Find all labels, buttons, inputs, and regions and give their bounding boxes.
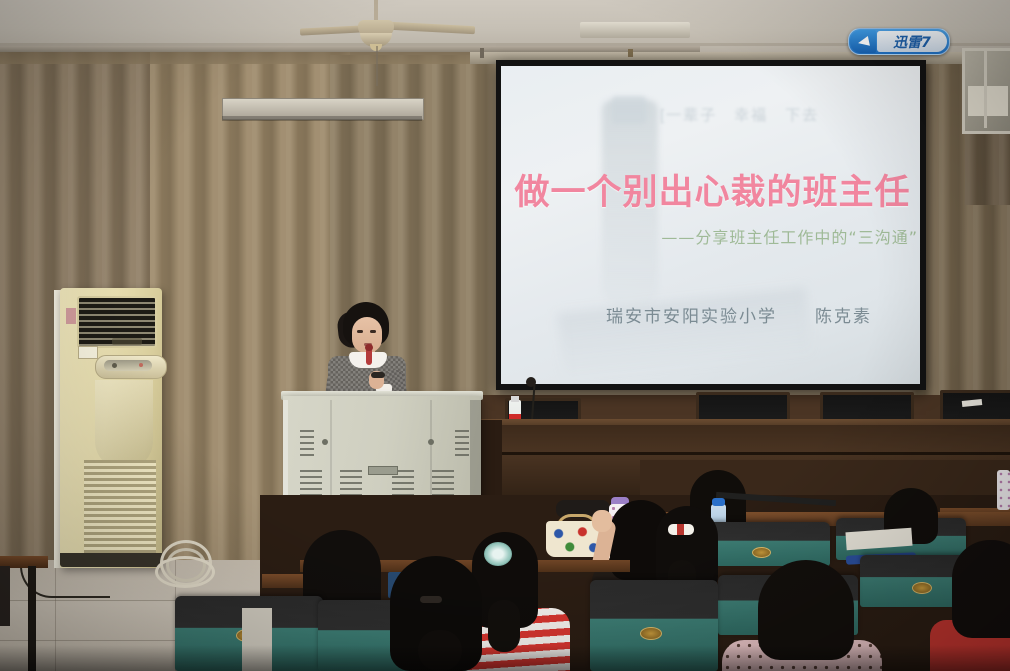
- podium-vent: [455, 430, 469, 456]
- podium-lock[interactable]: [428, 439, 434, 445]
- ceiling-fan-rod: [374, 0, 378, 22]
- window-pane: [968, 86, 1008, 116]
- audience-member-hair: [952, 540, 1010, 638]
- water-bottle-cap: [712, 498, 725, 506]
- chair-emblem: [752, 547, 771, 558]
- chair-emblem: [640, 627, 662, 640]
- bird-glyph: [857, 35, 870, 47]
- slide-title: 做一个别出心裁的班主任: [510, 164, 915, 215]
- hair-tie: [420, 596, 442, 603]
- hair-bow: [668, 524, 694, 535]
- speaker-wristwatch: [371, 372, 385, 378]
- air-conditioner-label-tag: [78, 346, 98, 359]
- watermark-label: 迅雷7: [893, 32, 931, 52]
- window-mullion: [984, 48, 987, 128]
- podium-handle[interactable]: [368, 466, 398, 475]
- ceiling-fan-pull-cord: [376, 46, 378, 86]
- projector-housing-shadow: [222, 116, 422, 121]
- screen-hook-middle: [628, 49, 633, 57]
- audience-hand: [592, 510, 612, 532]
- screen-hook-left: [480, 48, 484, 58]
- water-bottle-cap: [511, 396, 519, 402]
- air-conditioner-base: [60, 553, 162, 567]
- polka-dot-bottle: [997, 470, 1010, 510]
- air-conditioner-power-led: [139, 363, 143, 367]
- air-conditioner-badge: [66, 308, 76, 324]
- slide-ghost-text: [一辈子 幸福 下去: [660, 104, 910, 146]
- air-conditioner-logo: [112, 338, 142, 345]
- speaker-eye-right: [370, 330, 376, 333]
- hair-scrunchie: [484, 542, 512, 566]
- head-table-return: [480, 420, 502, 495]
- handheld-microphone-head: [365, 344, 373, 351]
- bottom-shadow: [0, 645, 1010, 671]
- microphone-head: [526, 377, 536, 387]
- air-conditioner-louvers: [84, 460, 156, 555]
- xunlei-watermark: 迅雷7: [848, 28, 950, 55]
- table-leg: [0, 566, 10, 626]
- air-conditioner-front-panel: [95, 380, 153, 470]
- chair-emblem: [912, 582, 932, 594]
- slide-subtitle: ——分享班主任工作中的“三沟通”: [560, 224, 918, 248]
- ceiling-vent-box: [580, 22, 690, 38]
- podium-lock[interactable]: [322, 439, 328, 445]
- slide-ghost-bottle-cap: [612, 96, 646, 124]
- air-conditioner-button[interactable]: [112, 363, 117, 368]
- coiled-cable: [155, 556, 215, 588]
- speaker-eye-left: [357, 330, 363, 333]
- slide-footer-affiliation: 瑞安市安阳实验小学 陈克素: [560, 302, 918, 327]
- desk-edge: [262, 574, 308, 588]
- head-table-moulding: [480, 452, 1010, 455]
- xunlei-bird-icon: [850, 30, 876, 53]
- podium-vent: [300, 430, 314, 456]
- watermark-pill: 迅雷7: [877, 31, 947, 52]
- lecture-hall-photo: [一辈子 幸福 下去 做一个别出心裁的班主任 ——分享班主任工作中的“三沟通” …: [0, 0, 1010, 671]
